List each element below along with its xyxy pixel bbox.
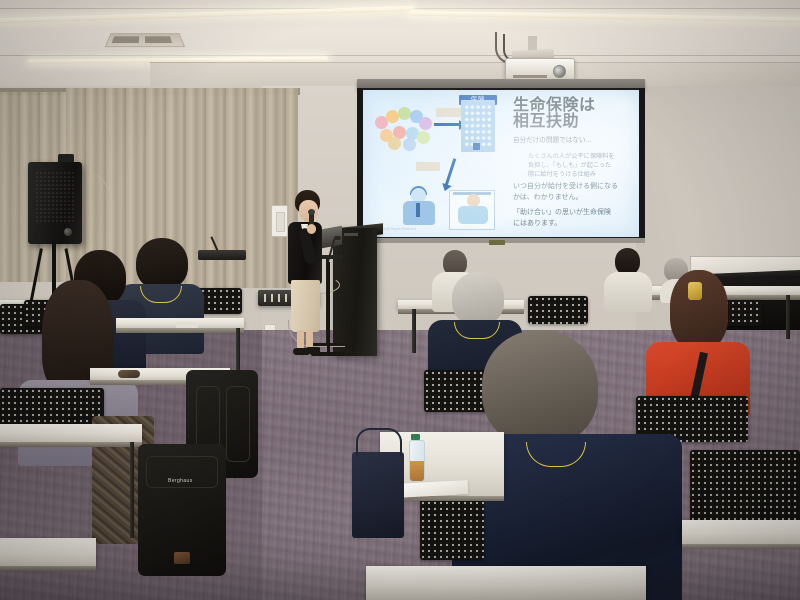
slide-tag-block bbox=[416, 162, 440, 171]
seminar-room-photo: 保険 生命保険は 相互扶助 自分だけの問題ではない… たくさんの人が公平に保険料… bbox=[0, 0, 800, 600]
tea-bottle[interactable] bbox=[409, 440, 425, 482]
slide-note-line1: たくさんの人が公平に保険料を bbox=[528, 152, 638, 161]
screen-border-right bbox=[639, 88, 645, 240]
desk bbox=[366, 566, 646, 600]
building-entrance bbox=[473, 143, 480, 150]
slide-title: 生命保険は 相互扶助 bbox=[513, 98, 635, 130]
screen-weight-bar bbox=[489, 240, 505, 245]
crowd-of-people-icon bbox=[373, 104, 433, 146]
table-microphone-base bbox=[198, 250, 246, 260]
slide-title-line1: 生命保険は bbox=[513, 98, 635, 114]
presenter-shoe bbox=[305, 347, 320, 354]
presenter-skirt bbox=[291, 280, 320, 332]
lectern-badge bbox=[344, 233, 358, 236]
slide-note-line2: 負担し、「もしも」が起こった bbox=[528, 161, 638, 170]
hospital-bed-icon bbox=[449, 190, 495, 230]
hair-clip bbox=[688, 282, 702, 300]
bag-leather-patch bbox=[174, 552, 190, 564]
presenter-leg bbox=[297, 330, 304, 350]
slide-note: たくさんの人が公平に保険料を 負担し、「もしも」が起こった 際に給付をうける仕組… bbox=[528, 152, 638, 179]
bottle-cap bbox=[411, 434, 420, 440]
attendee-woman-white-top bbox=[604, 248, 652, 308]
slide-title-line2: 相互扶助 bbox=[513, 114, 635, 130]
slide-paragraph-2: 「助け合い」の思いが生命保険 にはあります。 bbox=[513, 208, 639, 229]
desk bbox=[0, 424, 142, 442]
boom-microphone-icon bbox=[334, 236, 341, 240]
presenter bbox=[282, 190, 334, 365]
desk-leg bbox=[236, 328, 240, 374]
chair[interactable] bbox=[690, 450, 800, 530]
speaker-driver-icon bbox=[64, 228, 72, 236]
desk-leg bbox=[786, 295, 790, 339]
sick-person-icon bbox=[401, 188, 441, 230]
desk-leg bbox=[130, 442, 134, 538]
slide-tag-block bbox=[436, 108, 462, 117]
slide-paragraph-1: いつ自分が給付を受ける側になる かは、わかりません。 bbox=[513, 182, 639, 203]
slide-p2-line1: 「助け合い」の思いが生命保険 bbox=[513, 208, 639, 219]
arrow-right-icon bbox=[434, 123, 460, 126]
insurance-building-icon bbox=[461, 100, 495, 152]
desk bbox=[682, 520, 800, 544]
backpack-brand-label: Berghaus bbox=[168, 478, 193, 484]
air-vent-icon bbox=[105, 33, 185, 47]
slide-p2-line2: にはあります。 bbox=[513, 219, 639, 230]
desk-leg bbox=[412, 309, 416, 353]
tote-handle bbox=[356, 428, 402, 456]
navy-tote-bag[interactable] bbox=[352, 452, 404, 538]
desk-item-pouch[interactable] bbox=[118, 370, 140, 378]
presenter-hand bbox=[307, 224, 316, 234]
slide-p1-line2: かは、わかりません。 bbox=[513, 193, 639, 204]
ceiling-light-strip bbox=[410, 11, 800, 23]
slide-p1-line1: いつ自分が給付を受ける側になる bbox=[513, 182, 639, 193]
projected-slide: 保険 生命保険は 相互扶助 自分だけの問題ではない… たくさんの人が公平に保険料… bbox=[363, 90, 639, 237]
pa-speaker bbox=[28, 162, 82, 244]
building-windows bbox=[464, 104, 492, 148]
desk-item-phone[interactable] bbox=[176, 322, 198, 328]
backpack[interactable]: Berghaus bbox=[138, 444, 226, 576]
slide-subtitle: 自分だけの問題ではない… bbox=[513, 136, 638, 145]
desk bbox=[0, 538, 96, 566]
arrow-down-icon bbox=[445, 158, 457, 186]
chair[interactable] bbox=[528, 296, 588, 324]
slide-note-line3: 際に給付をうける仕組み bbox=[528, 170, 638, 179]
projector-lens-icon bbox=[553, 65, 566, 78]
